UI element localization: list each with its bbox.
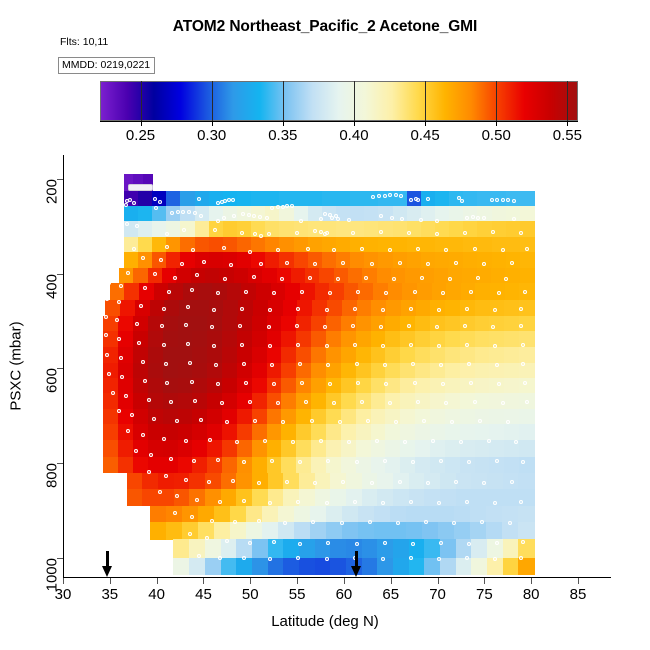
heatmap-cell	[487, 473, 503, 490]
heatmap-cell	[311, 393, 326, 410]
flight-track-marker	[512, 199, 516, 203]
flight-track-marker	[495, 459, 499, 463]
flight-track-marker	[141, 256, 145, 260]
heatmap-cell	[519, 409, 534, 425]
flight-track-marker	[119, 356, 123, 360]
heatmap-cell	[133, 331, 148, 347]
heatmap-cell	[445, 316, 460, 332]
flight-track-marker	[347, 440, 351, 444]
heatmap-cell	[491, 268, 506, 284]
flight-track-marker	[162, 307, 166, 311]
flight-track-marker	[325, 308, 329, 312]
flight-track-marker	[437, 308, 441, 312]
heatmap-cell	[489, 331, 504, 347]
heatmap-cell	[358, 283, 373, 300]
heatmap-cell	[230, 522, 247, 539]
flight-track-marker	[398, 261, 402, 265]
heatmap-cell	[445, 378, 460, 394]
heatmap-cell	[166, 237, 181, 253]
flight-track-marker	[281, 205, 285, 209]
heatmap-cell	[327, 300, 342, 317]
flight-track-marker	[465, 216, 469, 220]
flight-track-marker	[244, 381, 248, 385]
heatmap-cell	[463, 206, 478, 222]
flight-track-marker	[295, 324, 299, 328]
heatmap-cell	[178, 363, 193, 379]
heatmap-cell	[189, 558, 205, 575]
x-axis-tick	[578, 578, 579, 584]
heatmap-cell	[475, 363, 490, 379]
heatmap-cell	[460, 316, 475, 332]
flight-track-marker	[465, 500, 469, 504]
heatmap-cell	[415, 440, 430, 457]
y-axis-line	[63, 155, 64, 577]
heatmap-cell	[393, 539, 409, 559]
flight-track-marker	[218, 500, 222, 504]
heatmap-cell	[267, 440, 282, 457]
heatmap-cell	[279, 237, 294, 253]
heatmap-cell	[267, 316, 282, 332]
flight-track-marker	[143, 379, 147, 383]
heatmap-cell	[518, 473, 534, 490]
heatmap-cell	[341, 393, 356, 410]
flight-track-marker	[248, 400, 252, 404]
colorbar-tick-label: 0.55	[553, 127, 582, 144]
heatmap-cell	[471, 489, 487, 506]
heatmap-cell	[378, 252, 393, 268]
heatmap-cell	[281, 424, 296, 441]
heatmap-cell	[336, 191, 351, 207]
flight-track-marker	[366, 419, 370, 423]
heatmap-cell	[223, 300, 238, 317]
heatmap-cell	[377, 268, 392, 284]
x-axis-tick-label: 40	[148, 586, 165, 603]
latitude-arrow	[102, 551, 113, 577]
heatmap-cell	[209, 300, 224, 317]
flight-track-marker	[164, 474, 168, 478]
heatmap-cell	[371, 378, 386, 394]
flight-track-marker	[426, 197, 430, 201]
flight-track-marker	[409, 500, 413, 504]
heatmap-cell	[222, 424, 237, 441]
heatmap-cell	[475, 457, 490, 474]
heatmap-cell	[356, 331, 371, 347]
colorbar-tickmark	[354, 121, 355, 126]
heatmap-cell	[341, 424, 356, 441]
heatmap-cell	[178, 331, 193, 347]
heatmap-cell	[296, 424, 311, 441]
x-axis-tick-label: 35	[101, 586, 118, 603]
arrow-head	[102, 566, 112, 577]
heatmap-cell	[291, 268, 306, 284]
flight-track-marker	[153, 197, 157, 201]
heatmap-cell	[148, 347, 163, 363]
flight-track-marker	[285, 480, 289, 484]
heatmap-cell	[252, 457, 267, 474]
heatmap-cell	[462, 268, 477, 284]
flight-track-marker	[482, 481, 486, 485]
heatmap-cell	[150, 506, 167, 523]
heatmap-cell	[311, 378, 326, 394]
flight-track-marker	[190, 380, 194, 384]
flight-track-marker	[216, 382, 220, 386]
flight-track-marker	[482, 262, 486, 266]
heatmap-cell	[267, 457, 282, 474]
heatmap-cell	[445, 363, 460, 379]
heatmap-cell	[393, 221, 408, 237]
heatmap-cell	[178, 393, 193, 410]
heatmap-cell	[435, 252, 450, 268]
heatmap-cell	[350, 191, 365, 207]
heatmap-cell	[393, 489, 409, 506]
flight-track-marker	[113, 267, 117, 271]
heatmap-cell	[299, 489, 315, 506]
heatmap-cell	[346, 489, 362, 506]
heatmap-cell	[192, 378, 207, 394]
heatmap-cell	[415, 316, 430, 332]
flight-track-marker	[323, 212, 327, 216]
flight-track-marker	[128, 198, 132, 202]
heatmap-cell	[296, 316, 311, 332]
flight-track-marker	[190, 288, 194, 292]
heatmap-cell	[348, 268, 363, 284]
heatmap-cell	[456, 473, 472, 490]
heatmap-cell	[268, 473, 284, 490]
flight-track-marker	[313, 481, 317, 485]
heatmap-cell	[237, 457, 252, 474]
heatmap-cell	[492, 252, 507, 268]
heatmap-cell	[311, 457, 326, 474]
flight-track-marker	[426, 262, 430, 266]
heatmap-cell	[163, 347, 178, 363]
flight-track-marker	[231, 198, 235, 202]
heatmap-cell	[356, 457, 371, 474]
heatmap-cell	[364, 237, 379, 253]
heatmap-cell	[430, 440, 445, 457]
heatmap-cell	[192, 347, 207, 363]
heatmap-cell	[294, 522, 311, 539]
flight-track-marker	[411, 460, 415, 464]
flight-track-marker	[501, 248, 505, 252]
flight-track-marker	[437, 344, 441, 348]
heatmap-cell	[138, 237, 153, 253]
heatmap-cell	[192, 409, 207, 425]
heatmap-cell	[176, 268, 191, 284]
heatmap-cell	[252, 393, 267, 410]
heatmap-cell	[456, 558, 472, 575]
y-axis-title: PSXC (mbar)	[8, 321, 25, 410]
heatmap-cell	[518, 489, 534, 506]
flight-track-marker	[482, 216, 486, 220]
colorbar-divider	[354, 81, 355, 121]
heatmap-cell	[192, 316, 207, 332]
heatmap-cell	[520, 191, 535, 207]
heatmap-cell	[350, 206, 365, 222]
heatmap-cell	[342, 506, 359, 523]
heatmap-cell	[163, 378, 178, 394]
heatmap-cell	[326, 424, 341, 441]
flight-track-marker	[162, 343, 166, 347]
heatmap-cell	[207, 440, 222, 457]
heatmap-cell	[138, 206, 153, 222]
heatmap-cell	[475, 409, 490, 425]
flight-track-marker	[313, 262, 317, 266]
flight-track-marker	[190, 515, 194, 519]
heatmap-cell	[519, 424, 534, 441]
heatmap-cell	[504, 347, 519, 363]
heatmap-cell	[422, 522, 439, 539]
heatmap-cell	[222, 378, 237, 394]
heatmap-cell	[390, 522, 407, 539]
heatmap-cell	[506, 237, 521, 253]
flight-track-marker	[501, 401, 505, 405]
flight-track-marker	[381, 501, 385, 505]
heatmap-cell	[205, 558, 221, 575]
heatmap-plot-area	[63, 155, 578, 577]
heatmap-cell	[118, 440, 133, 457]
heatmap-cell	[385, 424, 400, 441]
heatmap-cell	[449, 206, 464, 222]
heatmap-cell	[237, 191, 252, 207]
heatmap-cell	[294, 506, 311, 523]
heatmap-cell	[326, 316, 341, 332]
heatmap-cell	[296, 378, 311, 394]
flight-track-marker	[411, 362, 415, 366]
heatmap-cell	[505, 283, 520, 300]
flight-track-marker	[231, 479, 235, 483]
heatmap-cell	[192, 424, 207, 441]
flight-track-marker	[497, 291, 501, 295]
flight-track-marker	[409, 198, 413, 202]
flight-track-marker	[180, 262, 184, 266]
heatmap-cell	[364, 252, 379, 268]
flight-track-marker	[280, 277, 284, 281]
colorbar-tick-label: 0.30	[197, 127, 226, 144]
heatmap-cell	[124, 252, 139, 268]
heatmap-cell	[315, 473, 331, 490]
heatmap-cell	[477, 221, 492, 237]
flight-track-marker	[390, 216, 394, 220]
heatmap-cell	[310, 522, 327, 539]
heatmap-cell	[471, 558, 487, 575]
heatmap-cell	[486, 522, 503, 539]
flight-track-marker	[510, 480, 514, 484]
heatmap-cell	[454, 522, 471, 539]
flight-track-marker	[398, 480, 402, 484]
flight-track-marker	[409, 307, 413, 311]
flight-track-marker	[514, 440, 518, 444]
x-axis-line	[63, 577, 611, 578]
heatmap-cell	[356, 347, 371, 363]
heatmap-cell	[296, 409, 311, 425]
flight-track-marker	[205, 536, 209, 540]
heatmap-cell	[267, 363, 282, 379]
heatmap-cell	[386, 300, 401, 317]
heatmap-cell	[135, 300, 150, 317]
flight-track-marker	[497, 382, 501, 386]
heatmap-cell	[445, 347, 460, 363]
flight-track-marker	[381, 308, 385, 312]
heatmap-cell	[341, 409, 356, 425]
heatmap-cell	[364, 221, 379, 237]
heatmap-cell	[252, 489, 268, 506]
x-axis-tick-label: 50	[242, 586, 259, 603]
heatmap-cell	[124, 237, 139, 253]
flight-track-marker	[304, 400, 308, 404]
flight-track-marker	[276, 205, 280, 209]
heatmap-cell	[463, 252, 478, 268]
heatmap-cell	[421, 221, 436, 237]
heatmap-cell	[415, 331, 430, 347]
heatmap-cell	[322, 252, 337, 268]
flight-track-marker	[235, 440, 239, 444]
heatmap-cell	[475, 347, 490, 363]
heatmap-cell	[475, 283, 490, 300]
flight-track-marker	[512, 217, 516, 221]
flights-annotation: Flts: 10,11	[60, 36, 108, 48]
heatmap-cell	[237, 424, 252, 441]
heatmap-cell	[362, 558, 378, 575]
x-axis-tick	[438, 578, 439, 584]
heatmap-cell	[103, 424, 118, 441]
heatmap-cell	[138, 191, 153, 207]
heatmap-cell	[421, 252, 436, 268]
x-axis-tick	[203, 578, 204, 584]
heatmap-cell	[252, 558, 268, 575]
heatmap-cell	[299, 558, 315, 575]
heatmap-cell	[391, 268, 406, 284]
flight-track-marker	[222, 216, 226, 220]
flight-track-marker	[175, 419, 179, 423]
heatmap-cell	[358, 506, 375, 523]
flight-track-marker	[351, 324, 355, 328]
flight-track-marker	[379, 214, 383, 218]
flight-track-marker	[435, 219, 439, 223]
flight-track-marker	[510, 261, 514, 265]
heatmap-cell	[449, 221, 464, 237]
heatmap-cell	[192, 331, 207, 347]
flight-track-marker	[267, 325, 271, 329]
heatmap-cell	[194, 300, 209, 317]
x-axis-tick	[344, 578, 345, 584]
heatmap-cell	[430, 409, 445, 425]
heatmap-cell	[103, 363, 118, 379]
flight-track-marker	[216, 219, 220, 223]
heatmap-cell	[139, 283, 154, 300]
flight-track-marker	[216, 291, 220, 295]
flight-track-marker	[259, 262, 263, 266]
colorbar-tick-label: 0.35	[268, 127, 297, 144]
heatmap-cell	[406, 506, 423, 523]
heatmap-cell	[506, 221, 521, 237]
heatmap-cell	[504, 300, 519, 317]
flight-track-marker	[364, 276, 368, 280]
flight-track-marker	[242, 556, 246, 560]
flight-track-marker	[193, 211, 197, 215]
flight-track-marker	[370, 481, 374, 485]
heatmap-cell	[430, 393, 445, 410]
heatmap-cell	[222, 347, 237, 363]
flight-track-marker	[394, 420, 398, 424]
heatmap-cell	[377, 473, 393, 490]
heatmap-cell	[341, 378, 356, 394]
heatmap-cell	[173, 558, 189, 575]
heatmap-cell	[192, 440, 207, 457]
heatmap-cell	[252, 347, 267, 363]
heatmap-cell	[341, 363, 356, 379]
heatmap-cell	[504, 457, 519, 474]
flight-track-marker	[132, 201, 136, 205]
heatmap-cell	[311, 363, 326, 379]
heatmap-cell	[222, 316, 237, 332]
colorbar-tick-label: 0.40	[339, 127, 368, 144]
heatmap-cell	[133, 363, 148, 379]
heatmap-cell	[356, 424, 371, 441]
heatmap-cell	[460, 457, 475, 474]
flight-track-marker	[469, 290, 473, 294]
heatmap-cell	[471, 539, 487, 559]
heatmap-cell	[227, 283, 242, 300]
heatmap-cell	[405, 268, 420, 284]
flight-track-marker	[437, 501, 441, 505]
heatmap-cell	[486, 506, 503, 523]
heatmap-cell	[445, 457, 460, 474]
heatmap-cell	[223, 237, 238, 253]
heatmap-cell	[221, 558, 237, 575]
heatmap-cell	[475, 300, 490, 317]
heatmap-cell	[336, 221, 351, 237]
heatmap-cell	[520, 252, 535, 268]
heatmap-cell	[251, 252, 266, 268]
heatmap-cell	[371, 393, 386, 410]
colorbar-tick-label: 0.45	[410, 127, 439, 144]
x-axis-tick	[250, 578, 251, 584]
heatmap-cell	[400, 347, 415, 363]
flight-track-marker	[469, 381, 473, 385]
heatmap-cell	[385, 440, 400, 457]
flight-track-marker	[134, 449, 138, 453]
heatmap-cell	[222, 331, 237, 347]
flight-track-marker	[232, 214, 236, 218]
heatmap-cell	[178, 440, 193, 457]
heatmap-cell	[326, 440, 341, 457]
flight-track-marker	[467, 362, 471, 366]
heatmap-cell	[409, 558, 425, 575]
flight-track-marker	[353, 500, 357, 504]
heatmap-cell	[265, 252, 280, 268]
colorbar-tickmark	[496, 121, 497, 126]
flight-track-marker	[375, 439, 379, 443]
heatmap-cell	[506, 252, 521, 268]
heatmap-cell	[415, 363, 430, 379]
x-axis-tick-label: 75	[476, 586, 493, 603]
flight-track-marker	[158, 490, 162, 494]
heatmap-cell	[214, 522, 231, 539]
heatmap-cell	[189, 473, 205, 490]
heatmap-cell	[477, 252, 492, 268]
heatmap-cell	[133, 393, 148, 410]
heatmap-cell	[222, 393, 237, 410]
colorbar: 0.250.300.350.400.450.500.55	[100, 81, 578, 121]
flight-track-marker	[420, 276, 424, 280]
heatmap-cell	[409, 473, 425, 490]
flight-track-marker	[332, 401, 336, 405]
flight-track-marker	[383, 194, 387, 198]
heatmap-cell	[237, 440, 252, 457]
flight-track-marker	[162, 437, 166, 441]
latitude-arrow	[351, 551, 362, 577]
heatmap-cell	[400, 424, 415, 441]
